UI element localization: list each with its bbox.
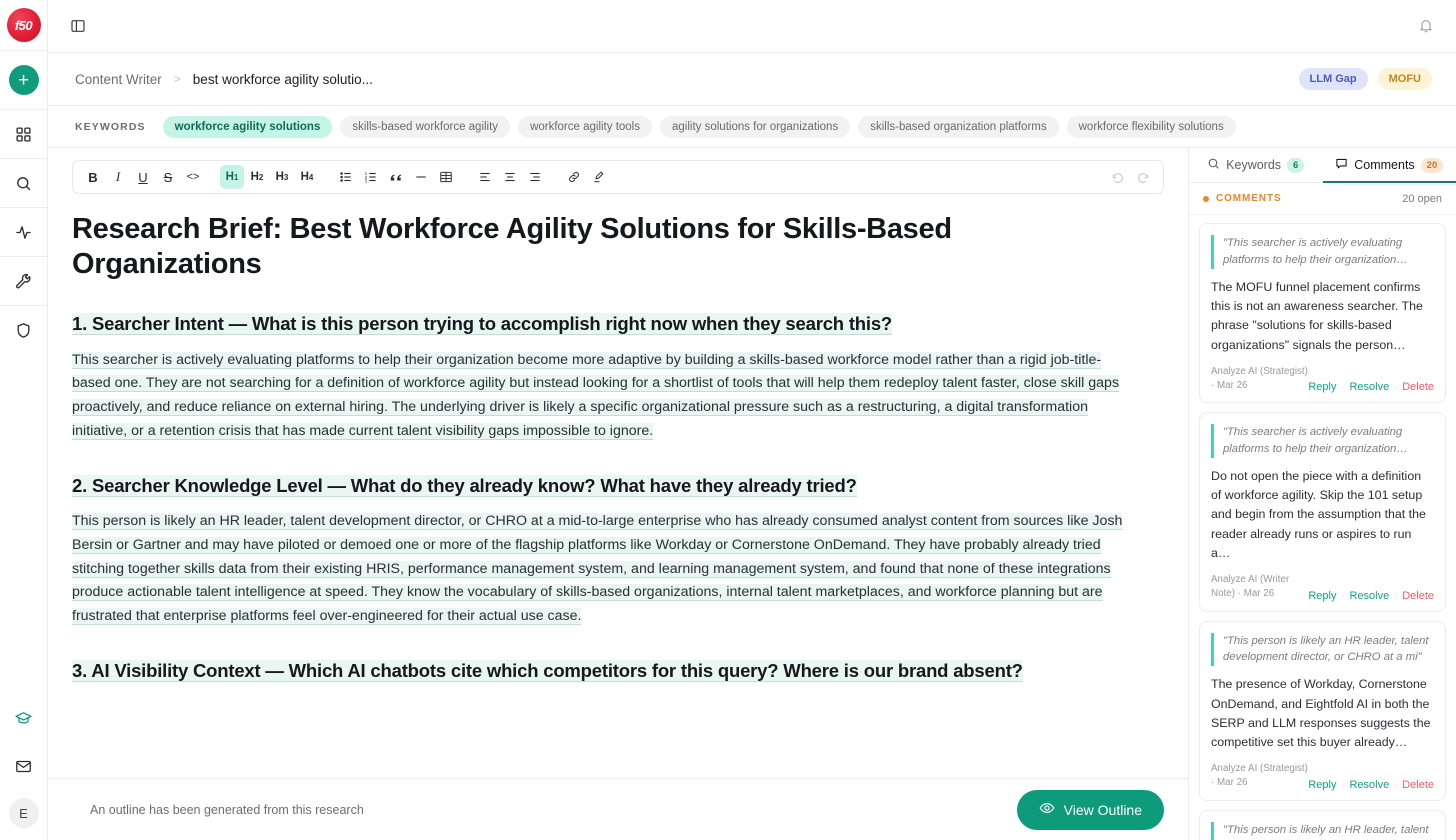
- sidebar-item-activity[interactable]: [0, 208, 47, 256]
- comment-card[interactable]: "This person is likely an HR leader, tal…: [1199, 810, 1446, 840]
- status-badge-llm-gap: LLM Gap: [1299, 68, 1368, 90]
- comments-list[interactable]: "This searcher is actively evaluating pl…: [1189, 215, 1456, 840]
- action-separator: ·: [1341, 591, 1344, 601]
- comment-quote: "This person is likely an HR leader, tal…: [1211, 633, 1434, 667]
- breadcrumb-current: best workforce agility solutio...: [193, 72, 373, 87]
- editor-toolbar: B I U S <> H1 H2 H3 H4 123: [72, 160, 1164, 194]
- redo-icon: [1136, 170, 1150, 184]
- minus-icon: [414, 170, 428, 184]
- comment-resolve-button[interactable]: Resolve: [1349, 590, 1389, 602]
- comment-reply-button[interactable]: Reply: [1308, 779, 1336, 791]
- keyword-pill-3[interactable]: agility solutions for organizations: [660, 116, 850, 138]
- comment-card[interactable]: "This searcher is actively evaluating pl…: [1199, 223, 1446, 403]
- comments-section-header: COMMENTS 20 open: [1189, 183, 1456, 215]
- comments-section-label: COMMENTS: [1216, 193, 1282, 204]
- heading1-button[interactable]: H1: [220, 165, 244, 189]
- comment-author: Analyze AI (Strategist): [1211, 366, 1308, 377]
- keyword-pill-0[interactable]: workforce agility solutions: [163, 116, 333, 138]
- keyword-pill-4[interactable]: skills-based organization platforms: [858, 116, 1058, 138]
- sidebar-item-dashboard[interactable]: [0, 110, 47, 158]
- align-center-button[interactable]: [498, 165, 522, 189]
- heading2-sub: 2: [259, 173, 263, 182]
- bullet-list-button[interactable]: [334, 165, 358, 189]
- tab-comments-count: 20: [1421, 158, 1444, 173]
- table-icon: [439, 170, 453, 184]
- document-section-1: 1. Searcher Intent — What is this person…: [72, 312, 1132, 443]
- highlighter-icon: [592, 170, 606, 184]
- breadcrumb-bar: Content Writer > best workforce agility …: [48, 53, 1456, 106]
- quote-icon: [389, 170, 403, 184]
- tab-keywords[interactable]: Keywords 6: [1189, 148, 1323, 182]
- breadcrumb-separator: >: [174, 72, 181, 86]
- numbered-list-icon: 123: [364, 170, 378, 184]
- section-heading-1: 1. Searcher Intent — What is this person…: [72, 312, 1132, 337]
- create-new-button[interactable]: +: [9, 65, 39, 95]
- comment-footer: Analyze AI (Strategist) · Mar 26 Reply ·…: [1211, 762, 1434, 790]
- left-nav-rail: f50 +: [0, 0, 48, 840]
- comment-body: The presence of Workday, Cornerstone OnD…: [1211, 675, 1434, 752]
- envelope-icon: [15, 758, 32, 775]
- undo-icon: [1111, 170, 1125, 184]
- comment-footer: Analyze AI (Writer Note) · Mar 26 Reply …: [1211, 573, 1434, 601]
- align-left-button[interactable]: [473, 165, 497, 189]
- heading1-label: H: [226, 171, 234, 183]
- comment-delete-button[interactable]: Delete: [1402, 590, 1434, 602]
- dashboard-icon: [15, 126, 32, 143]
- align-center-icon: [503, 170, 517, 184]
- bullet-list-icon: [339, 170, 353, 184]
- heading2-button[interactable]: H2: [245, 165, 269, 189]
- keyword-pill-1[interactable]: skills-based workforce agility: [340, 116, 510, 138]
- action-separator: ·: [1394, 591, 1397, 601]
- section-heading-3-text: 3. AI Visibility Context — Which AI chat…: [72, 660, 1023, 682]
- wrench-icon: [15, 273, 32, 290]
- bold-button[interactable]: B: [81, 165, 105, 189]
- comments-open-count: 20 open: [1402, 193, 1442, 205]
- notifications-button[interactable]: [1412, 12, 1440, 40]
- comment-delete-button[interactable]: Delete: [1402, 779, 1434, 791]
- eye-icon: [1039, 800, 1055, 819]
- align-right-icon: [528, 170, 542, 184]
- keywords-bar: KEYWORDS workforce agility solutions ski…: [48, 106, 1456, 148]
- blockquote-button[interactable]: [384, 165, 408, 189]
- status-message: An outline has been generated from this …: [90, 803, 364, 817]
- highlight-button[interactable]: [587, 165, 611, 189]
- align-right-button[interactable]: [523, 165, 547, 189]
- rail-icon-list: [0, 110, 47, 354]
- rail-bottom-group: E: [0, 694, 47, 840]
- search-icon: [1207, 157, 1220, 173]
- top-bar: [48, 0, 1456, 53]
- comment-body: The MOFU funnel placement confirms this …: [1211, 278, 1434, 355]
- section-heading-2-text: 2. Searcher Knowledge Level — What do th…: [72, 475, 857, 497]
- document-content: Research Brief: Best Workforce Agility S…: [72, 212, 1132, 683]
- heading4-button[interactable]: H4: [295, 165, 319, 189]
- insert-table-button[interactable]: [434, 165, 458, 189]
- panel-toggle-icon: [70, 18, 86, 34]
- graduation-cap-icon: [15, 710, 32, 727]
- action-separator: ·: [1394, 382, 1397, 392]
- rail-divider: [0, 50, 47, 51]
- right-panel: Keywords 6 Comments 20 COMMENTS 20 open: [1188, 148, 1456, 840]
- document-editor[interactable]: Research Brief: Best Workforce Agility S…: [48, 194, 1188, 778]
- editor-column: B I U S <> H1 H2 H3 H4 123: [48, 148, 1188, 840]
- horizontal-rule-button[interactable]: [409, 165, 433, 189]
- section-body-1-text: This searcher is actively evaluating pla…: [72, 352, 1119, 440]
- keywords-label: KEYWORDS: [75, 121, 146, 133]
- comment-quote: "This person is likely an HR leader, tal…: [1211, 822, 1434, 840]
- page-title: Research Brief: Best Workforce Agility S…: [72, 212, 1132, 282]
- comment-icon: [1335, 157, 1348, 173]
- header-badges: LLM Gap MOFU: [1299, 68, 1432, 90]
- comment-card[interactable]: "This person is likely an HR leader, tal…: [1199, 621, 1446, 801]
- comment-card[interactable]: "This searcher is actively evaluating pl…: [1199, 412, 1446, 611]
- section-body-2: This person is likely an HR leader, tale…: [72, 510, 1132, 629]
- user-avatar[interactable]: E: [9, 798, 39, 828]
- comment-resolve-button[interactable]: Resolve: [1349, 779, 1389, 791]
- comment-reply-button[interactable]: Reply: [1308, 590, 1336, 602]
- sidebar-item-learn[interactable]: [0, 694, 47, 742]
- section-heading-2: 2. Searcher Knowledge Level — What do th…: [72, 474, 1132, 499]
- section-heading-3: 3. AI Visibility Context — Which AI chat…: [72, 659, 1132, 684]
- app-logo[interactable]: f50: [7, 8, 41, 42]
- comment-meta: Analyze AI (Strategist) · Mar 26: [1211, 365, 1308, 393]
- action-separator: ·: [1394, 780, 1397, 790]
- heading3-button[interactable]: H3: [270, 165, 294, 189]
- comment-quote: "This searcher is actively evaluating pl…: [1211, 424, 1434, 458]
- document-section-2: 2. Searcher Knowledge Level — What do th…: [72, 474, 1132, 629]
- insert-link-button[interactable]: [562, 165, 586, 189]
- view-outline-label: View Outline: [1064, 802, 1142, 818]
- comment-resolve-button[interactable]: Resolve: [1349, 381, 1389, 393]
- comment-date: Mar 26: [1217, 380, 1248, 391]
- keyword-pill-5[interactable]: workforce flexibility solutions: [1067, 116, 1236, 138]
- sidebar-item-messages[interactable]: [0, 742, 47, 790]
- heading4-sub: 4: [309, 173, 313, 182]
- tab-keywords-label: Keywords: [1226, 158, 1281, 172]
- notifications-bell-icon: [1418, 18, 1434, 34]
- link-icon: [567, 170, 581, 184]
- underline-button[interactable]: U: [131, 165, 155, 189]
- code-button[interactable]: <>: [181, 165, 205, 189]
- svg-text:3: 3: [365, 178, 368, 183]
- status-bar: An outline has been generated from this …: [48, 778, 1188, 840]
- comment-reply-button[interactable]: Reply: [1308, 381, 1336, 393]
- section-body-1: This searcher is actively evaluating pla…: [72, 349, 1132, 444]
- search-icon: [15, 175, 32, 192]
- workspace: B I U S <> H1 H2 H3 H4 123: [48, 148, 1456, 840]
- tab-comments[interactable]: Comments 20: [1323, 148, 1456, 182]
- section-heading-1-text: 1. Searcher Intent — What is this person…: [72, 313, 892, 335]
- breadcrumb-root[interactable]: Content Writer: [75, 72, 162, 87]
- comment-delete-button[interactable]: Delete: [1402, 381, 1434, 393]
- app-root: f50 +: [0, 0, 1456, 840]
- redo-button[interactable]: [1131, 165, 1155, 189]
- comment-meta: Analyze AI (Writer Note) · Mar 26: [1211, 573, 1308, 601]
- strikethrough-button[interactable]: S: [156, 165, 180, 189]
- section-body-2-text: This person is likely an HR leader, tale…: [72, 513, 1122, 625]
- align-left-icon: [478, 170, 492, 184]
- tab-comments-label: Comments: [1354, 158, 1414, 172]
- comment-body: Do not open the piece with a definition …: [1211, 467, 1434, 563]
- shield-icon: [15, 322, 32, 339]
- heading3-sub: 3: [284, 173, 288, 182]
- heading1-sub: 1: [234, 173, 238, 182]
- italic-button[interactable]: I: [106, 165, 130, 189]
- view-outline-button[interactable]: View Outline: [1017, 790, 1164, 830]
- comment-actions: Reply · Resolve · Delete: [1308, 779, 1434, 791]
- action-separator: ·: [1341, 780, 1344, 790]
- sidebar-item-search[interactable]: [0, 159, 47, 207]
- action-separator: ·: [1341, 382, 1344, 392]
- heading4-label: H: [301, 171, 309, 183]
- comment-date: Mar 26: [1244, 588, 1275, 599]
- numbered-list-button[interactable]: 123: [359, 165, 383, 189]
- comment-footer: Analyze AI (Strategist) · Mar 26 Reply ·…: [1211, 365, 1434, 393]
- status-badge-mofu: MOFU: [1378, 68, 1432, 90]
- comment-actions: Reply · Resolve · Delete: [1308, 381, 1434, 393]
- status-dot-icon: [1203, 196, 1209, 202]
- comment-actions: Reply · Resolve · Delete: [1308, 590, 1434, 602]
- comment-quote: "This searcher is actively evaluating pl…: [1211, 235, 1434, 269]
- comment-date: Mar 26: [1217, 777, 1248, 788]
- panel-toggle-button[interactable]: [64, 12, 92, 40]
- undo-button[interactable]: [1106, 165, 1130, 189]
- main-column: Content Writer > best workforce agility …: [48, 0, 1456, 840]
- activity-icon: [15, 224, 32, 241]
- heading2-label: H: [251, 171, 259, 183]
- heading3-label: H: [276, 171, 284, 183]
- comment-author: Analyze AI (Strategist): [1211, 763, 1308, 774]
- panel-tabs: Keywords 6 Comments 20: [1189, 148, 1456, 183]
- comment-meta: Analyze AI (Strategist) · Mar 26: [1211, 762, 1308, 790]
- sidebar-item-security[interactable]: [0, 306, 47, 354]
- document-section-3: 3. AI Visibility Context — Which AI chat…: [72, 659, 1132, 684]
- keyword-pill-2[interactable]: workforce agility tools: [518, 116, 652, 138]
- sidebar-item-tools[interactable]: [0, 257, 47, 305]
- tab-keywords-count: 6: [1287, 158, 1304, 173]
